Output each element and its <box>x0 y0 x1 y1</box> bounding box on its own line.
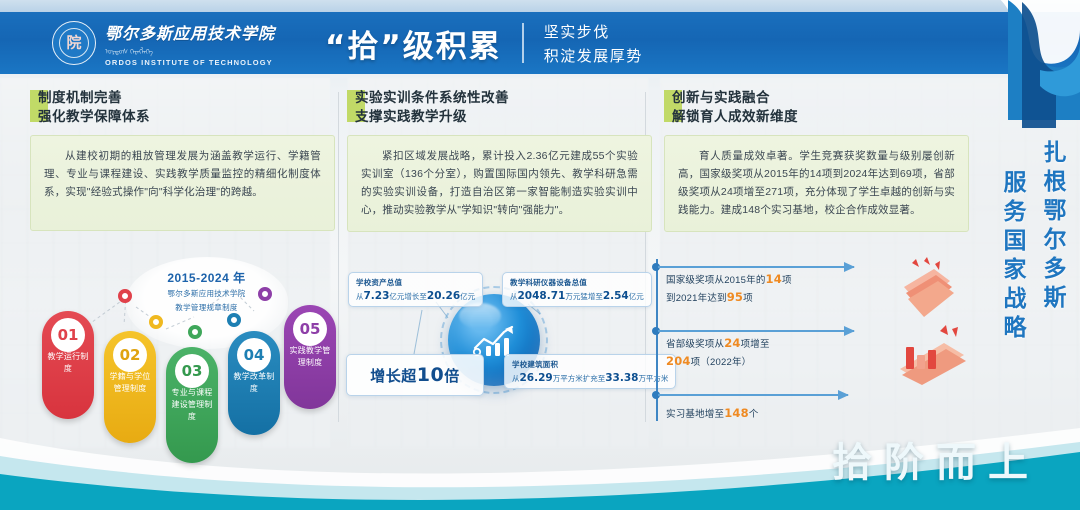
diagram-subtitle-line2: 教学管理规章制度 <box>134 302 279 314</box>
infographic-poster: 院 鄂尔多斯应用技术学院 ᠣᠷᠳᠤᠰ ᠬᠡᠷᠡᠭᠯᠡᠭᠡ ORDOS INSTI… <box>0 0 1080 510</box>
timeline-arrow-3 <box>658 394 848 396</box>
column-2-body: 紧扣区域发展战略，累计投入2.36亿元建成55个实验实训室（136个分室），购置… <box>347 135 652 232</box>
stat2-line1-pre: 省部级奖项从 <box>666 339 724 350</box>
equipment-from: 2048.71 <box>518 290 566 302</box>
stat2-line2-num: 204 <box>666 354 691 368</box>
stat2-line1-num: 24 <box>724 336 740 350</box>
growth-highlight-box: 增长超10倍 <box>346 354 484 396</box>
pill-number-03: 03 <box>175 354 209 388</box>
data-box-equipment-value: 从2048.71万元猛增至2.54亿元 <box>510 290 644 302</box>
buildings-mid: 万平方米扩充至 <box>553 374 606 383</box>
pill-number-01: 01 <box>51 318 85 352</box>
column-2-body-text: 紧扣区域发展战略，累计投入2.36亿元建成55个实验实训室（136个分室），购置… <box>361 147 638 219</box>
pill-item-04[interactable]: 04 教学改革制度 <box>228 331 280 435</box>
stat1-line1-pre: 国家级奖项从2015年的 <box>666 275 766 286</box>
pill-number-05: 05 <box>293 312 327 346</box>
footer-slogan: 拾阶而上 <box>832 430 1040 488</box>
stat1-line2-pre: 到2021年达到 <box>666 293 727 304</box>
pill-item-03[interactable]: 03 专业与课程建设管理制度 <box>166 347 218 463</box>
university-name-cn: 鄂尔多斯应用技术学院 <box>105 20 275 44</box>
achievement-stat-3-line1: 实习基地增至148个 <box>666 405 759 423</box>
node-01 <box>118 289 132 303</box>
equipment-suffix: 亿元 <box>629 292 644 301</box>
achievement-stat-2: 省部级奖项从24项增至 204项（2022年） <box>666 335 770 371</box>
vertical-slogan-col2: 服务国家战略 <box>996 170 1030 344</box>
university-name-en: ORDOS INSTITUTE OF TECHNOLOGY <box>105 58 275 67</box>
achievement-stat-3: 实习基地增至148个 <box>666 405 759 423</box>
achievement-stat-1-line1: 国家级奖项从2015年的14项 <box>666 271 792 289</box>
data-box-buildings-value: 从26.29万平方米扩充至33.38万平方米 <box>512 372 668 384</box>
column-1-body-text: 从建校初期的粗放管理发展为涵盖教学运行、学籍管理、专业与课程建设、实践教学质量监… <box>44 147 321 201</box>
growth-suffix: 倍 <box>444 368 460 385</box>
data-box-assets: 学校资产总值 从7.23亿元增长至20.26亿元 <box>348 272 483 307</box>
assets-prefix: 从 <box>356 292 364 301</box>
column-3-body: 育人质量成效卓著。学生竞赛获奖数量与级别屡创新高，国家级奖项从2015年的14项… <box>664 135 969 232</box>
header-subtitle: 坚实步伐 积淀发展厚势 <box>544 21 643 66</box>
assets-to: 20.26 <box>427 290 460 302</box>
assets-mid: 亿元增长至 <box>389 292 427 301</box>
header-subtitle-line1: 坚实步伐 <box>544 21 643 42</box>
data-box-assets-value: 从7.23亿元增长至20.26亿元 <box>356 290 475 302</box>
assets-growth-diagram: 学校资产总值 从7.23亿元增长至20.26亿元 教学科研仪器设备总值 从204… <box>344 258 644 418</box>
vertical-slogan-col1: 扎根鄂尔多斯 <box>1036 140 1070 344</box>
achievement-stat-2-line2: 204项（2022年） <box>666 353 770 371</box>
pill-item-02[interactable]: 02 学籍与学位管理制度 <box>104 331 156 443</box>
growth-number: 10 <box>417 364 444 386</box>
column-2-title-line2: 支撑实践教学升级 <box>355 107 652 126</box>
data-box-buildings-title: 学校建筑面积 <box>512 359 668 370</box>
pill-item-05[interactable]: 05 实践教学管理制度 <box>284 305 336 409</box>
column-2: 实验实训条件系统性改善 支撑实践教学升级 紧扣区域发展战略，累计投入2.36亿元… <box>347 88 652 238</box>
buildings-from: 26.29 <box>520 372 553 384</box>
bar-chart-award-icon <box>894 323 966 385</box>
diagram-year-range: 2015-2024 年 <box>134 269 279 286</box>
growth-bar-chart-icon <box>471 322 517 358</box>
achievement-stat-1: 国家级奖项从2015年的14项 到2021年达到95项 <box>666 271 792 307</box>
pill-number-02: 02 <box>113 338 147 372</box>
equipment-to: 2.54 <box>603 290 629 302</box>
ribbon-swoosh-decoration <box>890 0 1080 130</box>
node-02 <box>149 315 163 329</box>
header-divider <box>522 23 524 63</box>
equipment-mid: 万元猛增至 <box>565 292 603 301</box>
university-name-mn: ᠣᠷᠳᠤᠰ ᠬᠡᠷᠡᠭᠯᠡᠭᠡ <box>105 45 275 57</box>
growth-prefix: 增长超 <box>370 368 417 385</box>
stat1-line2-post: 项 <box>743 293 753 304</box>
stat2-line2-post: 项（2022年） <box>691 357 752 368</box>
stat1-line2-num: 95 <box>727 290 743 304</box>
achievement-stat-2-line1: 省部级奖项从24项增至 <box>666 335 770 353</box>
column-1-body: 从建校初期的粗放管理发展为涵盖教学运行、学籍管理、专业与课程建设、实践教学质量监… <box>30 135 335 231</box>
data-box-equipment: 教学科研仪器设备总值 从2048.71万元猛增至2.54亿元 <box>502 272 652 307</box>
ribbon-award-icon <box>894 257 958 319</box>
buildings-to: 33.38 <box>605 372 638 384</box>
node-05 <box>258 287 272 301</box>
column-2-title: 实验实训条件系统性改善 支撑实践教学升级 <box>347 88 652 126</box>
pill-item-01[interactable]: 01 教学运行制度 <box>42 311 94 419</box>
vertical-slogan: 扎根鄂尔多斯 服务国家战略 <box>996 140 1070 344</box>
regulations-diagram: 2015-2024 年 鄂尔多斯应用技术学院 教学管理规章制度 01 教学运行制… <box>18 255 338 435</box>
equipment-prefix: 从 <box>510 292 518 301</box>
content-columns: 制度机制完善 强化教学保障体系 从建校初期的粗放管理发展为涵盖教学运行、学籍管理… <box>30 88 990 238</box>
stat1-line1-post: 项 <box>782 275 792 286</box>
timeline-arrow-1 <box>658 266 854 268</box>
stat3-line1-num: 148 <box>724 406 749 420</box>
column-1-title-line2: 强化教学保障体系 <box>38 107 335 126</box>
timeline-arrow-2 <box>658 330 854 332</box>
crest-glyph: 院 <box>66 36 81 51</box>
stat1-line1-num: 14 <box>766 272 782 286</box>
node-03 <box>188 325 202 339</box>
data-box-equipment-title: 教学科研仪器设备总值 <box>510 277 644 288</box>
achievement-stat-1-line2: 到2021年达到95项 <box>666 289 792 307</box>
pill-number-04: 04 <box>237 338 271 372</box>
column-1-title-line1: 制度机制完善 <box>38 88 335 107</box>
achievements-diagram: 国家级奖项从2015年的14项 到2021年达到95项 省部级奖项从24项增至 … <box>650 255 980 435</box>
column-3-body-text: 育人质量成效卓著。学生竞赛获奖数量与级别屡创新高，国家级奖项从2015年的14项… <box>678 147 955 219</box>
stat3-line1-pre: 实习基地增至 <box>666 409 724 420</box>
column-1: 制度机制完善 强化教学保障体系 从建校初期的粗放管理发展为涵盖教学运行、学籍管理… <box>30 88 335 238</box>
buildings-prefix: 从 <box>512 374 520 383</box>
university-crest-icon: 院 <box>52 21 96 65</box>
university-logo: 院 鄂尔多斯应用技术学院 ᠣᠷᠳᠤᠰ ᠬᠡᠷᠡᠭᠯᠡᠭᠡ ORDOS INSTI… <box>52 20 275 67</box>
data-box-assets-title: 学校资产总值 <box>356 277 475 288</box>
stat3-line1-post: 个 <box>749 409 759 420</box>
stat2-line1-post: 项增至 <box>741 339 770 350</box>
assets-from: 7.23 <box>364 290 390 302</box>
node-04 <box>227 313 241 327</box>
poster-title: “拾”级积累 <box>325 21 502 66</box>
assets-suffix: 亿元 <box>460 292 475 301</box>
column-1-title: 制度机制完善 强化教学保障体系 <box>30 88 335 126</box>
header-subtitle-line2: 积淀发展厚势 <box>544 45 643 66</box>
column-2-title-line1: 实验实训条件系统性改善 <box>355 88 652 107</box>
